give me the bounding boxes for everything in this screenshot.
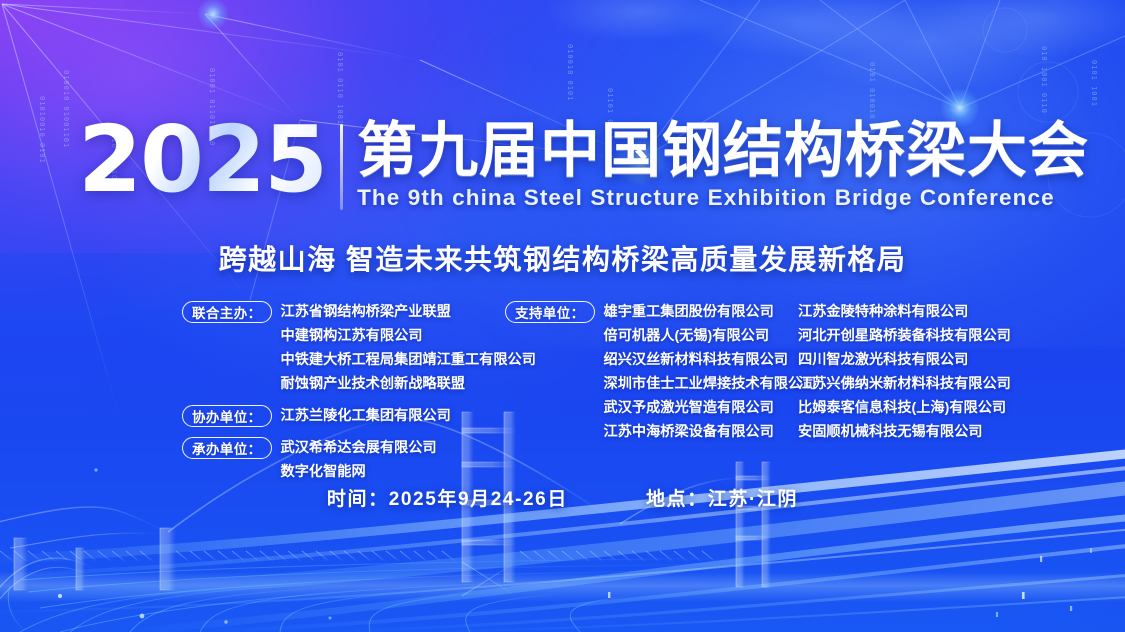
year-label: 2025: [78, 118, 326, 203]
list-item: 中建钢构江苏有限公司: [281, 324, 536, 348]
list-item: 安固顺机械科技无锡有限公司: [798, 420, 1011, 444]
list-item: 武汉予成激光智造有限公司: [604, 396, 817, 420]
title-text-column: 第九届中国钢结构桥梁大会 The 9th china Steel Structu…: [357, 118, 1089, 211]
co-organizer-label: 协办单位：: [182, 405, 272, 427]
event-location: 地点：江苏·江阴: [646, 484, 798, 511]
list-item: 江苏金陵特种涂料有限公司: [798, 300, 1011, 324]
undertaker-list: 武汉希希达会展有限公司 数字化智能网: [281, 436, 437, 484]
supporters-group: 支持单位： 雄宇重工集团股份有限公司 倍可机器人(无锡)有限公司 绍兴汉丝新材料…: [505, 300, 816, 444]
joint-host-list: 江苏省钢结构桥梁产业联盟 中建钢构江苏有限公司 中铁建大桥工程局集团靖江重工有限…: [281, 300, 536, 396]
page-subtitle-english: The 9th china Steel Structure Exhibition…: [357, 185, 1089, 211]
title-divider: [340, 124, 343, 210]
sponsor-column-right: 江苏金陵特种涂料有限公司 河北开创星路桥装备科技有限公司 四川智龙激光科技有限公…: [798, 300, 1011, 444]
list-item: 江苏中海桥梁设备有限公司: [604, 420, 817, 444]
tagline: 跨越山海 智造未来共筑钢结构桥梁高质量发展新格局: [0, 238, 1125, 278]
supporters-label: 支持单位：: [505, 301, 595, 323]
event-date: 时间：2025年9月24-26日: [327, 484, 568, 511]
event-footer: 时间：2025年9月24-26日 地点：江苏·江阴: [0, 484, 1125, 511]
list-item: 耐蚀钢产业技术创新战略联盟: [281, 372, 536, 396]
list-item: 雄宇重工集团股份有限公司: [604, 300, 817, 324]
banner-content: 2025 第九届中国钢结构桥梁大会 The 9th china Steel St…: [0, 0, 1125, 632]
page-title: 第九届中国钢结构桥梁大会: [357, 120, 1089, 182]
list-item: 比姆泰客信息科技(上海)有限公司: [798, 396, 1011, 420]
supporters-list-col1: 雄宇重工集团股份有限公司 倍可机器人(无锡)有限公司 绍兴汉丝新材料科技有限公司…: [604, 300, 817, 444]
list-item: 江苏省钢结构桥梁产业联盟: [281, 300, 536, 324]
co-organizer-list: 江苏兰陵化工集团有限公司: [281, 404, 451, 428]
conference-banner: 01010010 0101 010010 01001101 0110 10010…: [0, 0, 1125, 632]
list-item: 武汉希希达会展有限公司: [281, 436, 437, 460]
list-item: 深圳市佳士工业焊接技术有限公司: [604, 372, 817, 396]
list-item: 江苏兰陵化工集团有限公司: [281, 404, 451, 428]
title-block: 2025 第九届中国钢结构桥梁大会 The 9th china Steel St…: [78, 118, 1089, 211]
list-item: 倍可机器人(无锡)有限公司: [604, 324, 817, 348]
list-item: 中铁建大桥工程局集团靖江重工有限公司: [281, 348, 536, 372]
list-item: 江苏兴佛纳米新材料科技有限公司: [798, 372, 1011, 396]
sponsors-section: 联合主办： 江苏省钢结构桥梁产业联盟 中建钢构江苏有限公司 中铁建大桥工程局集团…: [0, 300, 1125, 460]
list-item: 河北开创星路桥装备科技有限公司: [798, 324, 1011, 348]
sponsor-column-middle: 支持单位： 雄宇重工集团股份有限公司 倍可机器人(无锡)有限公司 绍兴汉丝新材料…: [505, 300, 816, 452]
joint-host-label: 联合主办：: [182, 301, 272, 323]
supporters-list-col2: 江苏金陵特种涂料有限公司 河北开创星路桥装备科技有限公司 四川智龙激光科技有限公…: [798, 300, 1011, 444]
joint-host-group: 联合主办： 江苏省钢结构桥梁产业联盟 中建钢构江苏有限公司 中铁建大桥工程局集团…: [182, 300, 536, 396]
sponsor-column-left: 联合主办： 江苏省钢结构桥梁产业联盟 中建钢构江苏有限公司 中铁建大桥工程局集团…: [182, 300, 536, 492]
list-item: 四川智龙激光科技有限公司: [798, 348, 1011, 372]
list-item: 绍兴汉丝新材料科技有限公司: [604, 348, 817, 372]
undertaker-group: 承办单位： 武汉希希达会展有限公司 数字化智能网: [182, 436, 536, 484]
co-organizer-group: 协办单位： 江苏兰陵化工集团有限公司: [182, 404, 536, 428]
list-item: 数字化智能网: [281, 460, 437, 484]
undertaker-label: 承办单位：: [182, 437, 272, 459]
